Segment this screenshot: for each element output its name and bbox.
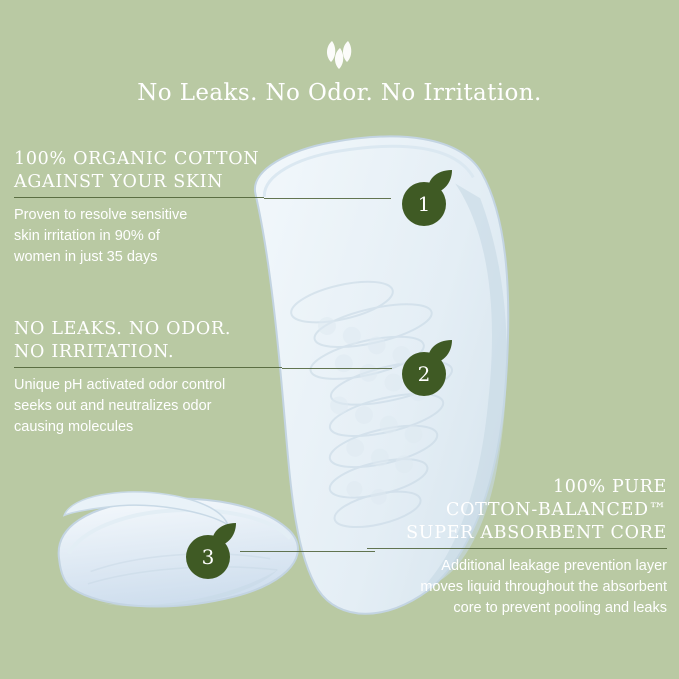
callout-2-rule bbox=[14, 367, 282, 368]
callout-3-title: 100% PURE COTTON-BALANCED™ SUPER ABSORBE… bbox=[367, 476, 667, 545]
callout-2-title: NO LEAKS. NO ODOR. NO IRRITATION. bbox=[14, 318, 282, 364]
connector-line-3 bbox=[240, 551, 375, 552]
leaf-badge-2: 2 bbox=[396, 338, 460, 402]
callout-3-number: 3 bbox=[186, 535, 230, 579]
product-infographic: No Leaks. No Odor. No Irritation. bbox=[0, 0, 679, 679]
callout-1-title: 100% ORGANIC COTTON AGAINST YOUR SKIN bbox=[14, 148, 264, 194]
connector-line-1 bbox=[264, 198, 391, 199]
leaf-badge-3: 3 bbox=[180, 521, 244, 585]
callout-2: NO LEAKS. NO ODOR. NO IRRITATION. Unique… bbox=[14, 318, 282, 438]
callout-1-body: Proven to resolve sensitive skin irritat… bbox=[14, 205, 264, 268]
connector-line-2 bbox=[282, 368, 392, 369]
callout-3-body: Additional leakage prevention layer move… bbox=[367, 556, 667, 619]
callout-1: 100% ORGANIC COTTON AGAINST YOUR SKIN Pr… bbox=[14, 148, 264, 268]
callout-3-rule bbox=[367, 548, 667, 549]
callout-2-number: 2 bbox=[402, 352, 446, 396]
three-leaves-icon bbox=[0, 36, 679, 72]
page-title: No Leaks. No Odor. No Irritation. bbox=[0, 80, 679, 106]
leaf-badge-1: 1 bbox=[396, 168, 460, 232]
callout-3: 100% PURE COTTON-BALANCED™ SUPER ABSORBE… bbox=[367, 476, 667, 619]
callout-1-rule bbox=[14, 197, 264, 198]
callout-2-body: Unique pH activated odor control seeks o… bbox=[14, 375, 282, 438]
callout-1-number: 1 bbox=[402, 182, 446, 226]
